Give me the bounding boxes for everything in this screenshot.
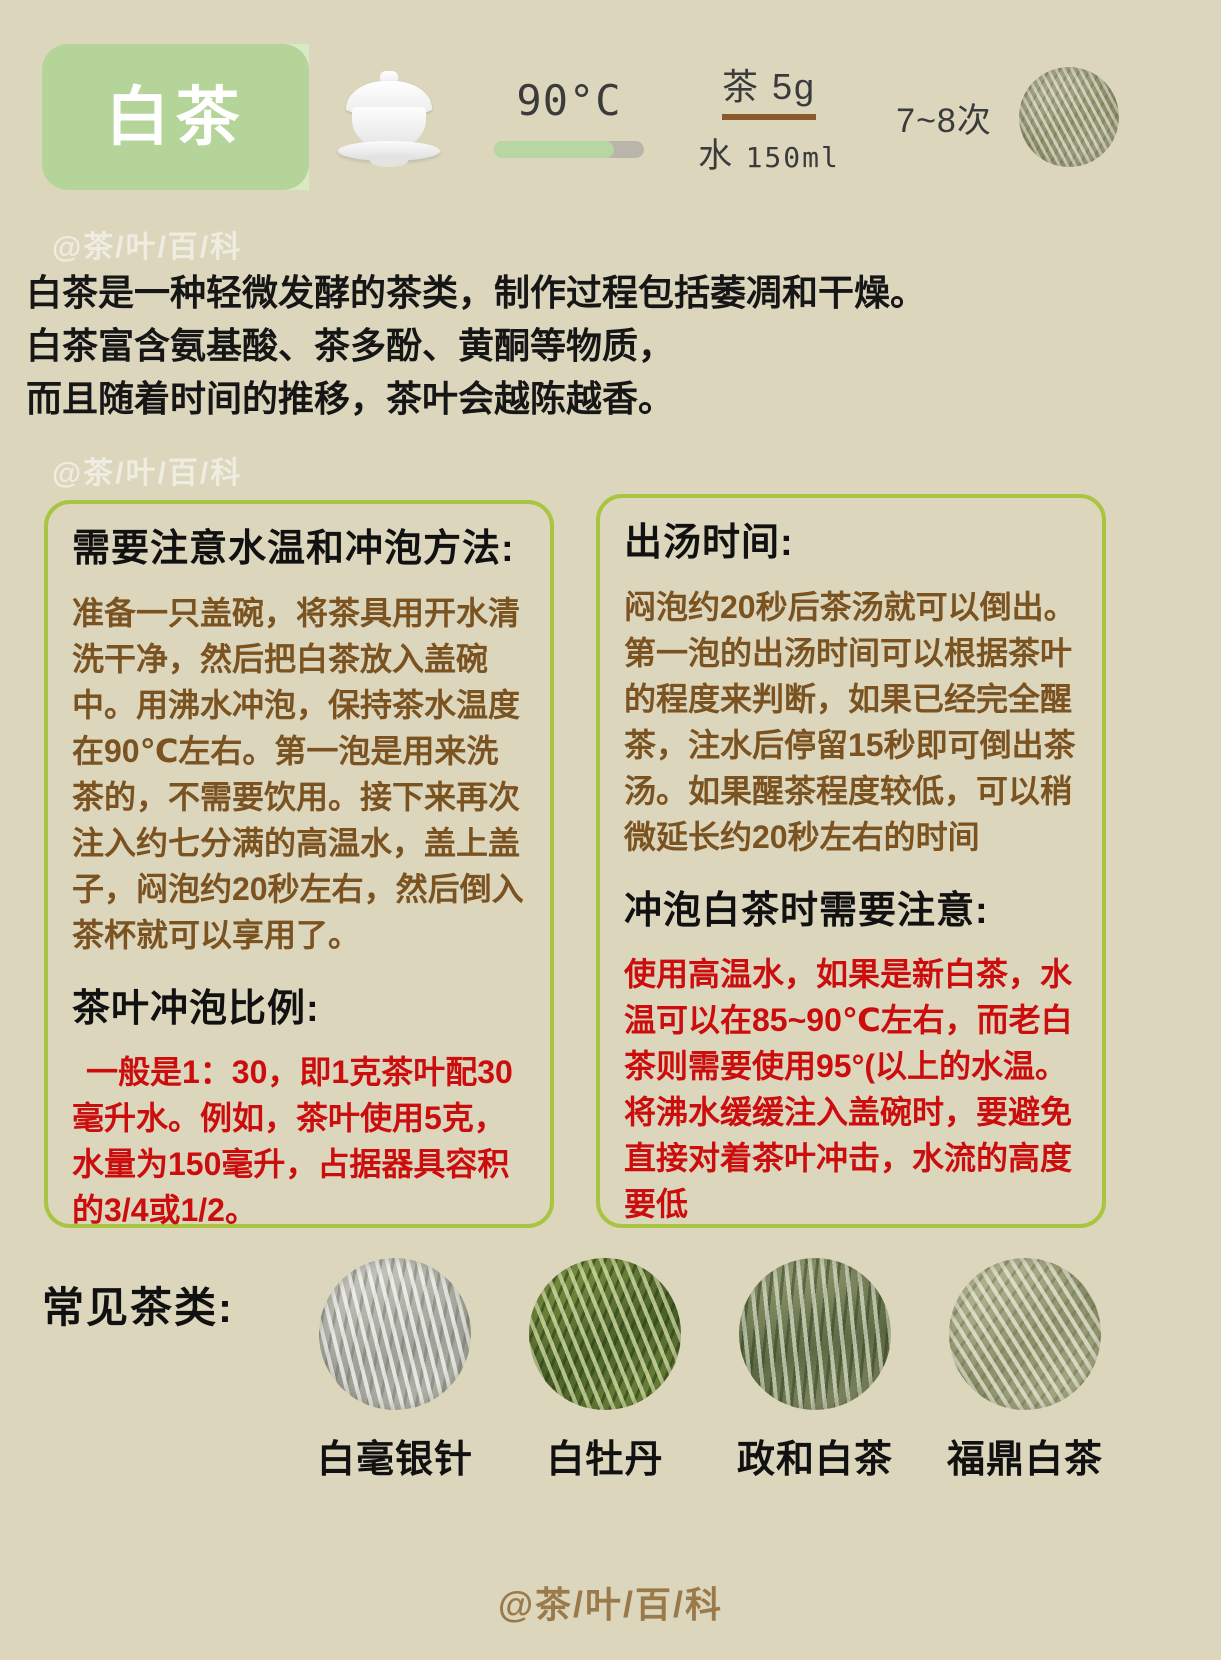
intro-paragraph: 白茶是一种轻微发酵的茶类，制作过程包括萎凋和干燥。 白茶富含氨基酸、茶多酚、黄酮… [26, 266, 1186, 425]
steep-time-card: 出汤时间: 闷泡约20秒后茶汤就可以倒出。第一泡的出汤时间可以根据茶叶的程度来判… [596, 494, 1106, 1228]
temperature-gauge [494, 141, 644, 158]
type-name: 白牡丹 [500, 1428, 710, 1483]
gaiwan-foot-icon [370, 155, 408, 167]
water-amount-value: 150ml [746, 141, 840, 174]
intro-line-3: 而且随着时间的推移，茶叶会越陈越香。 [26, 372, 1186, 425]
tea-water-ratio-block: 茶 5g 水 150ml [669, 58, 869, 177]
list-item: 政和白茶 [710, 1258, 920, 1483]
temperature-gauge-fill [494, 141, 614, 158]
brewing-method-card: 需要注意水温和冲泡方法: 准备一只盖碗，将茶具用开水清洗干净，然后把白茶放入盖碗… [44, 500, 554, 1228]
header-bar: 白茶 90°C 茶 5g 水 [42, 44, 1180, 190]
steep-time-heading: 出汤时间: [624, 520, 1078, 568]
brewing-ratio-body: 一般是1：30，即1克茶叶配30毫升水。例如，茶叶使用5克，水量为150毫升，占… [72, 1049, 526, 1233]
brewing-method-body: 准备一只盖碗，将茶具用开水清洗干净，然后把白茶放入盖碗中。用沸水冲泡，保持茶水温… [72, 590, 526, 958]
list-item: 白牡丹 [500, 1258, 710, 1483]
list-item: 白毫银针 [290, 1258, 500, 1483]
intro-line-2: 白茶富含氨基酸、茶多酚、黄酮等物质， [26, 319, 1186, 372]
gaiwan-icon [309, 67, 469, 167]
water-amount: 水 150ml [669, 128, 869, 177]
brewing-ratio-heading: 茶叶冲泡比例: [72, 986, 526, 1034]
brewing-notes-body: 使用高温水，如果是新白茶，水温可以在85~90℃左右，而老白茶则需要使用95°(… [624, 951, 1078, 1227]
tea-title-chip: 白茶 [42, 44, 309, 190]
list-item: 福鼎白茶 [920, 1258, 1130, 1483]
common-types-row: 白毫银针 白牡丹 政和白茶 福鼎白茶 [290, 1258, 1170, 1483]
brewing-notes-heading: 冲泡白茶时需要注意: [624, 888, 1078, 936]
watermark-top: @茶/叶/百/科 [52, 222, 242, 266]
tea-amount: 茶 5g [722, 58, 816, 120]
common-types-label: 常见茶类: [42, 1274, 234, 1335]
type-name: 政和白茶 [710, 1428, 920, 1483]
steep-time-body: 闷泡约20秒后茶汤就可以倒出。第一泡的出汤时间可以根据茶叶的程度来判断，如果已经… [624, 584, 1078, 860]
intro-line-1: 白茶是一种轻微发酵的茶类，制作过程包括萎凋和干燥。 [26, 266, 1186, 319]
water-amount-label: 水 [698, 137, 734, 175]
type-name: 白毫银针 [290, 1428, 500, 1483]
fuding-baicha-thumb-icon [949, 1258, 1101, 1410]
brewing-method-heading: 需要注意水温和冲泡方法: [72, 526, 526, 574]
brew-times-block: 7~8次 [869, 93, 1019, 142]
zhenghe-baicha-thumb-icon [739, 1258, 891, 1410]
type-name: 福鼎白茶 [920, 1428, 1130, 1483]
page-title: 白茶 [106, 85, 246, 149]
infographic-page: 白茶 90°C 茶 5g 水 [0, 0, 1221, 1660]
temperature-value: 90°C [469, 76, 669, 125]
header-stats: 90°C 茶 5g 水 150ml 7~8次 [309, 44, 1180, 190]
bai-mudan-thumb-icon [529, 1258, 681, 1410]
brew-times-value: 7~8次 [869, 93, 1019, 142]
watermark-middle: @茶/叶/百/科 [52, 448, 242, 492]
watermark-bottom: @茶/叶/百/科 [0, 1576, 1221, 1628]
baihao-yinzhen-thumb-icon [319, 1258, 471, 1410]
temperature-block: 90°C [469, 76, 669, 158]
white-tea-leaves-icon [1019, 67, 1119, 167]
